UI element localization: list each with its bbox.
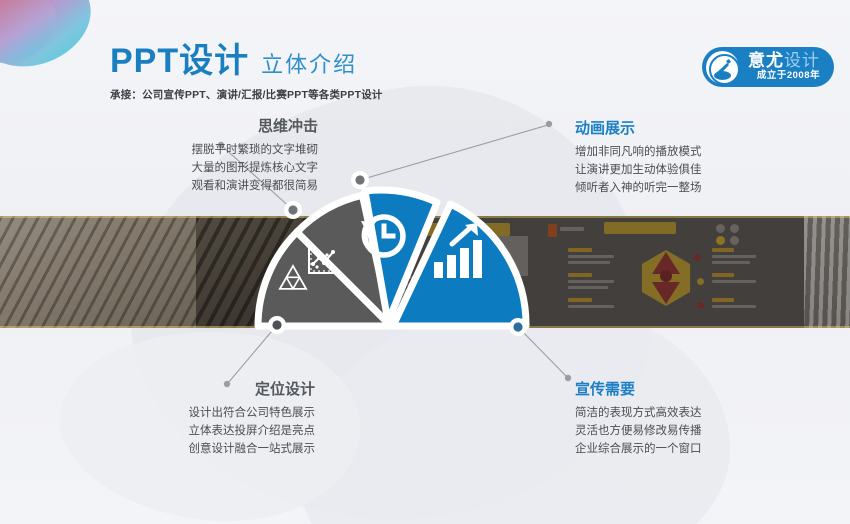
callout-promotion-need: 宣传需要 简洁的表现方式高效表达 灵活也方便易修改易传播 企业综合展示的一个窗口 (575, 381, 825, 458)
page-title: PPT设计 (110, 44, 249, 78)
callout-line: 创意设计融合一站式展示 (65, 441, 315, 459)
callout-line: 倾听者入神的听完一整场 (575, 180, 825, 198)
callout-line: 让演讲更加生动体验俱佳 (575, 162, 825, 180)
pen-circle-icon (706, 51, 739, 84)
brand-logo[interactable]: 意尤设计 成立于2008年 (702, 47, 834, 87)
callout-line: 立体表达投屏介绍是亮点 (65, 423, 315, 441)
callout-line: 增加非同凡响的播放模式 (575, 144, 825, 162)
callout-animation-display: 动画展示 增加非同凡响的播放模式 让演讲更加生动体验俱佳 倾听者入神的听完一整场 (575, 120, 825, 197)
callout-title: 宣传需要 (575, 381, 825, 399)
callout-line: 摆脱平时繁琐的文字堆砌 (68, 142, 318, 160)
callout-title: 动画展示 (575, 120, 825, 138)
logo-name-strong: 意尤 (748, 51, 784, 70)
logo-year: 成立于2008年 (748, 70, 820, 81)
callout-line: 观看和演讲变得都很简易 (68, 178, 318, 196)
callout-title: 思维冲击 (68, 118, 318, 136)
callout-line: 大量的图形提炼核心文字 (68, 160, 318, 178)
slide-canvas: PPT设计 立体介绍 承接：公司宣传PPT、演讲/汇报/比赛PPT等各类PPT设… (0, 0, 850, 524)
callout-line: 企业综合展示的一个窗口 (575, 441, 825, 459)
callout-title: 定位设计 (65, 381, 315, 399)
callout-line: 灵活也方便易修改易传播 (575, 423, 825, 441)
page-header: PPT设计 立体介绍 承接：公司宣传PPT、演讲/汇报/比赛PPT等各类PPT设… (110, 44, 383, 102)
logo-name-dim: 设计 (784, 51, 820, 70)
page-description: 承接：公司宣传PPT、演讲/汇报/比赛PPT等各类PPT设计 (110, 87, 383, 102)
callout-thinking-impact: 思维冲击 摆脱平时繁琐的文字堆砌 大量的图形提炼核心文字 观看和演讲变得都很简易 (68, 118, 318, 195)
callout-line: 简洁的表现方式高效表达 (575, 405, 825, 423)
page-subtitle: 立体介绍 (261, 54, 357, 76)
callout-line: 设计出符合公司特色展示 (65, 405, 315, 423)
callout-positioning-design: 定位设计 设计出符合公司特色展示 立体表达投屏介绍是亮点 创意设计融合一站式展示 (65, 381, 315, 458)
